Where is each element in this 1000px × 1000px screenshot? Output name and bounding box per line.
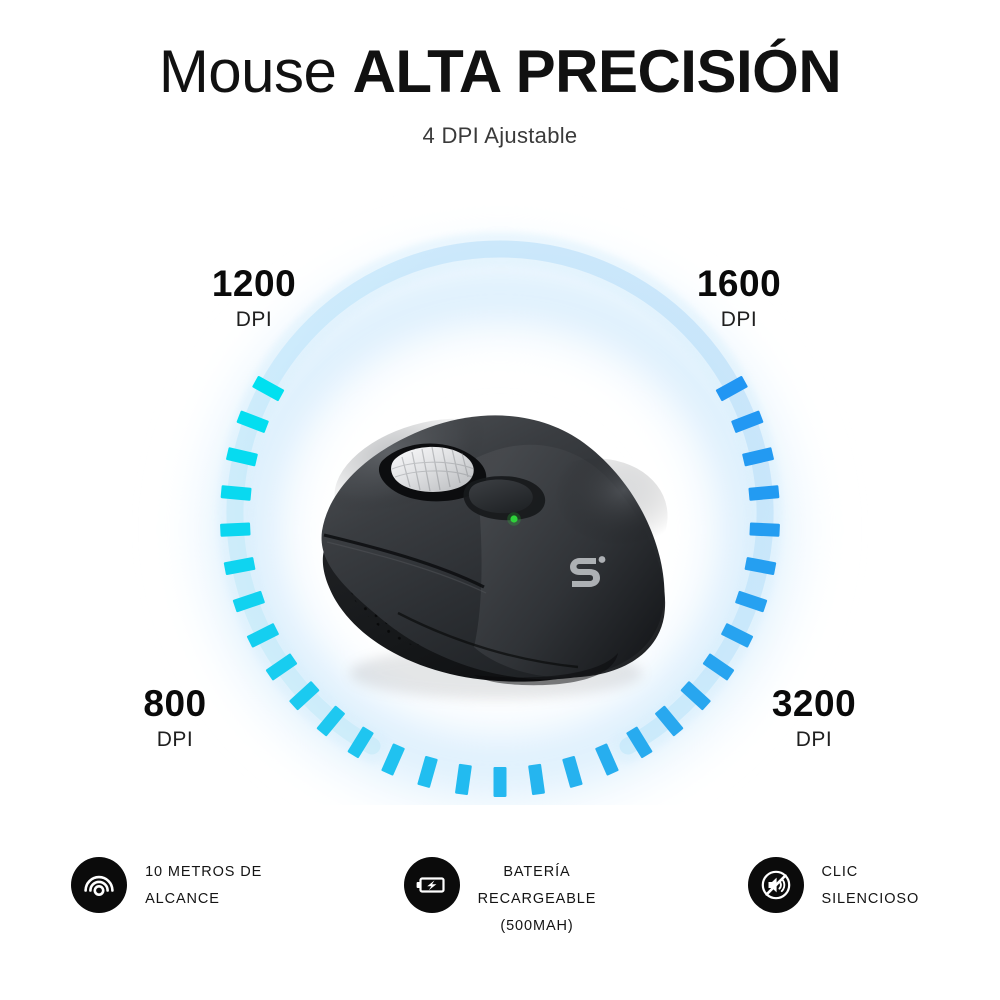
mouse-illustration	[278, 385, 708, 725]
dpi-value: 1600	[649, 265, 829, 302]
feature-line: RECARGEABLE	[478, 886, 597, 913]
page-title-bold: ALTA PRECISIÓN	[353, 38, 842, 105]
feature-row: 10 METROS DE ALCANCE BATERÍA RECARGEABLE…	[0, 845, 1000, 975]
rechargeable-battery-icon	[404, 857, 460, 913]
status-led-glow	[507, 512, 521, 526]
signal-range-icon	[71, 857, 127, 913]
feature-line: (500MAH)	[478, 913, 597, 940]
dpi-label-1600: 1600 DPI	[649, 265, 829, 330]
page-subtitle: 4 DPI Ajustable	[0, 123, 1000, 149]
page-title-light: Mouse	[159, 38, 353, 105]
dpi-unit: DPI	[649, 309, 829, 330]
dpi-unit: DPI	[164, 309, 344, 330]
feature-line: CLIC	[822, 859, 920, 886]
arc-segment	[748, 485, 779, 501]
dpi-label-3200: 3200 DPI	[724, 685, 904, 750]
silent-click-mute-icon	[748, 857, 804, 913]
feature-silent-click-label: CLIC SILENCIOSO	[822, 857, 920, 913]
page-header: Mouse ALTA PRECISIÓN 4 DPI Ajustable	[0, 0, 1000, 149]
arc-segment	[220, 522, 251, 536]
dpi-unit: DPI	[724, 729, 904, 750]
dpi-label-800: 800 DPI	[85, 685, 265, 750]
feature-line: ALCANCE	[145, 886, 262, 913]
feature-silent-click: CLIC SILENCIOSO	[667, 845, 1000, 913]
product-image-mouse	[278, 385, 708, 725]
feature-range-label: 10 METROS DE ALCANCE	[145, 857, 262, 913]
dpi-unit: DPI	[85, 729, 265, 750]
scroll-wheel[interactable]	[391, 447, 474, 492]
dpi-label-1200: 1200 DPI	[164, 265, 344, 330]
arc-segment	[221, 485, 252, 501]
feature-battery: BATERÍA RECARGEABLE (500MAH)	[333, 845, 666, 939]
feature-battery-label: BATERÍA RECARGEABLE (500MAH)	[478, 857, 597, 939]
feature-range: 10 METROS DE ALCANCE	[0, 845, 333, 913]
dpi-value: 3200	[724, 685, 904, 722]
feature-line: 10 METROS DE	[145, 859, 262, 886]
arc-segment	[494, 767, 507, 797]
dpi-value: 800	[85, 685, 265, 722]
feature-line: SILENCIOSO	[822, 886, 920, 913]
dpi-dial-hero: 1200 DPI 1600 DPI 800 DPI 3200 DPI	[0, 195, 1000, 805]
dpi-value: 1200	[164, 265, 344, 302]
product-feature-page: Mouse ALTA PRECISIÓN 4 DPI Ajustable	[0, 0, 1000, 1000]
page-title: Mouse ALTA PRECISIÓN	[0, 40, 1000, 105]
arc-segment	[749, 522, 780, 536]
feature-line: BATERÍA	[478, 859, 597, 886]
